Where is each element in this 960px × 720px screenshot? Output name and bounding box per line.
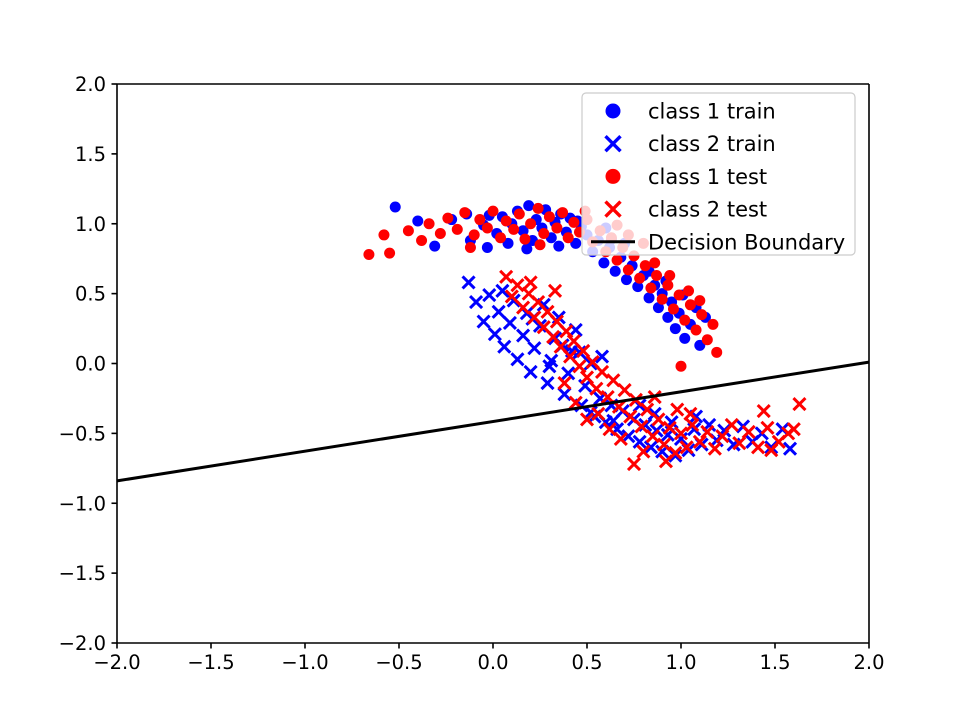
data-point	[563, 232, 574, 243]
data-point	[651, 270, 662, 281]
data-point	[544, 211, 555, 222]
data-point	[707, 319, 718, 330]
data-point	[495, 232, 506, 243]
data-point	[553, 241, 564, 252]
x-tick-label: −1.0	[281, 651, 328, 674]
data-point	[691, 324, 702, 335]
data-point	[452, 224, 463, 235]
matplotlib-figure: −2.0−1.5−1.0−0.50.00.51.01.52.0 −2.0−1.5…	[0, 0, 960, 720]
data-point	[612, 255, 623, 266]
data-point	[474, 214, 485, 225]
x-tick-label: 1.0	[665, 651, 696, 674]
data-point	[694, 295, 705, 306]
y-tick-label: 2.0	[75, 73, 106, 96]
chart-legend: class 1 trainclass 2 trainclass 1 testcl…	[582, 93, 855, 255]
y-tick-label: 1.5	[75, 143, 106, 166]
data-point	[378, 229, 389, 240]
data-point	[634, 273, 645, 284]
y-tick-label: 0.5	[75, 283, 106, 306]
data-point	[482, 242, 493, 253]
data-point	[533, 203, 544, 214]
y-tick-label: −2.0	[59, 632, 106, 655]
data-point	[664, 270, 675, 281]
data-point	[363, 249, 374, 260]
data-point	[469, 229, 480, 240]
y-tick-label: −1.5	[59, 562, 106, 585]
data-point	[535, 239, 546, 250]
x-tick-label: 1.5	[759, 651, 790, 674]
data-point	[519, 234, 530, 245]
legend-label: class 1 test	[648, 165, 767, 189]
legend-label: Decision Boundary	[648, 230, 845, 254]
data-point	[501, 215, 512, 226]
data-point	[668, 303, 679, 314]
data-point	[662, 280, 673, 291]
x-tick-label: 0.0	[477, 651, 508, 674]
data-point	[679, 315, 690, 326]
data-point	[657, 294, 668, 305]
data-point	[465, 242, 476, 253]
data-point	[416, 235, 427, 246]
legend-label: class 1 train	[648, 100, 776, 124]
data-point	[568, 217, 579, 228]
data-point	[390, 201, 401, 212]
data-point	[538, 228, 549, 239]
x-tick-label: −0.5	[375, 651, 422, 674]
data-point	[645, 283, 656, 294]
data-point	[412, 215, 423, 226]
data-point	[459, 207, 470, 218]
data-point	[384, 248, 395, 259]
data-point	[621, 274, 632, 285]
y-tick-label: 1.0	[75, 213, 106, 236]
legend-label: class 2 test	[648, 198, 767, 222]
data-point	[557, 207, 568, 218]
data-point	[670, 323, 681, 334]
data-point	[551, 222, 562, 233]
y-tick-label: 0.0	[75, 353, 106, 376]
x-tick-label: 0.5	[571, 651, 602, 674]
data-point	[525, 218, 536, 229]
data-point	[674, 290, 685, 301]
scatter-plot: −2.0−1.5−1.0−0.50.00.51.01.52.0 −2.0−1.5…	[0, 0, 960, 720]
x-tick-label: 2.0	[853, 651, 884, 674]
data-point	[711, 347, 722, 358]
data-point	[424, 218, 435, 229]
data-point	[488, 206, 499, 217]
data-point	[623, 264, 634, 275]
data-point	[702, 334, 713, 345]
data-point	[514, 208, 525, 219]
data-point	[610, 266, 621, 277]
data-point	[649, 257, 660, 268]
legend-marker-circle	[606, 169, 621, 184]
y-tick-label: −1.0	[59, 492, 106, 515]
data-point	[521, 243, 532, 254]
data-point	[683, 285, 694, 296]
legend-marker-circle	[606, 104, 621, 119]
data-point	[523, 200, 534, 211]
data-point	[676, 361, 687, 372]
data-point	[696, 309, 707, 320]
data-point	[508, 224, 519, 235]
y-tick-label: −0.5	[59, 422, 106, 445]
data-point	[403, 225, 414, 236]
data-point	[685, 299, 696, 310]
data-point	[679, 333, 690, 344]
data-point	[640, 260, 651, 271]
data-point	[644, 292, 655, 303]
data-point	[429, 241, 440, 252]
data-point	[598, 257, 609, 268]
data-point	[435, 228, 446, 239]
legend-label: class 2 train	[648, 132, 776, 156]
x-tick-label: −1.5	[187, 651, 234, 674]
data-point	[442, 213, 453, 224]
data-point	[482, 222, 493, 233]
